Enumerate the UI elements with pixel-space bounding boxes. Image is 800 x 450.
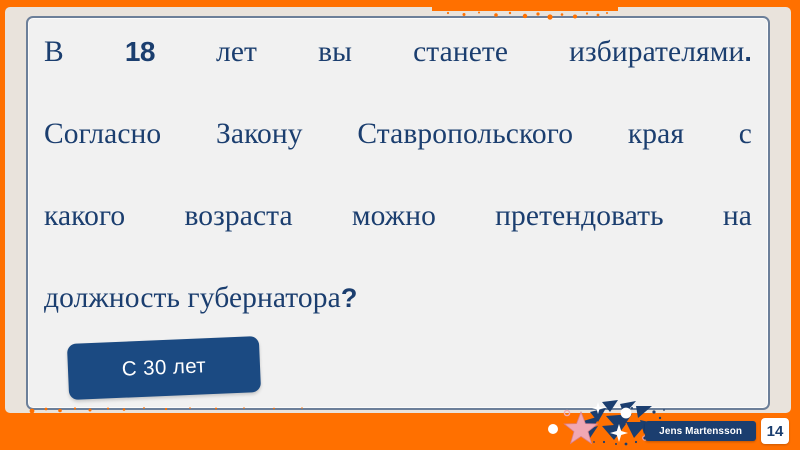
question-line-1-period: .	[744, 37, 752, 67]
page-number: 14	[767, 423, 784, 440]
page-number-badge: 14	[761, 418, 789, 444]
content-panel: В 18 лет вы станете избирателями. Соглас…	[26, 16, 770, 410]
question-line-1-post: лет вы станете избирателями	[155, 36, 744, 68]
question-text: В 18 лет вы станете избирателями. Соглас…	[44, 32, 752, 319]
age-number-18: 18	[125, 36, 155, 67]
pink-star	[564, 412, 597, 443]
white-sparkle	[610, 424, 628, 442]
question-line-1-pre: В	[44, 36, 125, 68]
white-dot-small	[548, 424, 558, 434]
question-mark: ?	[341, 283, 358, 313]
question-line-4: должность губернатора?	[44, 278, 752, 319]
question-line-1: В 18 лет вы станете избирателями.	[44, 32, 752, 114]
answer-chip[interactable]: С 30 лет	[67, 336, 261, 400]
answer-chip-label: С 30 лет	[121, 354, 206, 382]
question-line-4-text: должность губернатора	[44, 282, 341, 314]
presenter-label: Jens Martensson	[645, 421, 756, 441]
slide-canvas: В 18 лет вы станете избирателями. Соглас…	[0, 0, 800, 450]
question-line-2: Согласно Закону Ставропольского края с	[44, 114, 752, 196]
question-line-3: какого возраста можно претендовать на	[44, 196, 752, 278]
presenter-name: Jens Martensson	[659, 425, 742, 437]
